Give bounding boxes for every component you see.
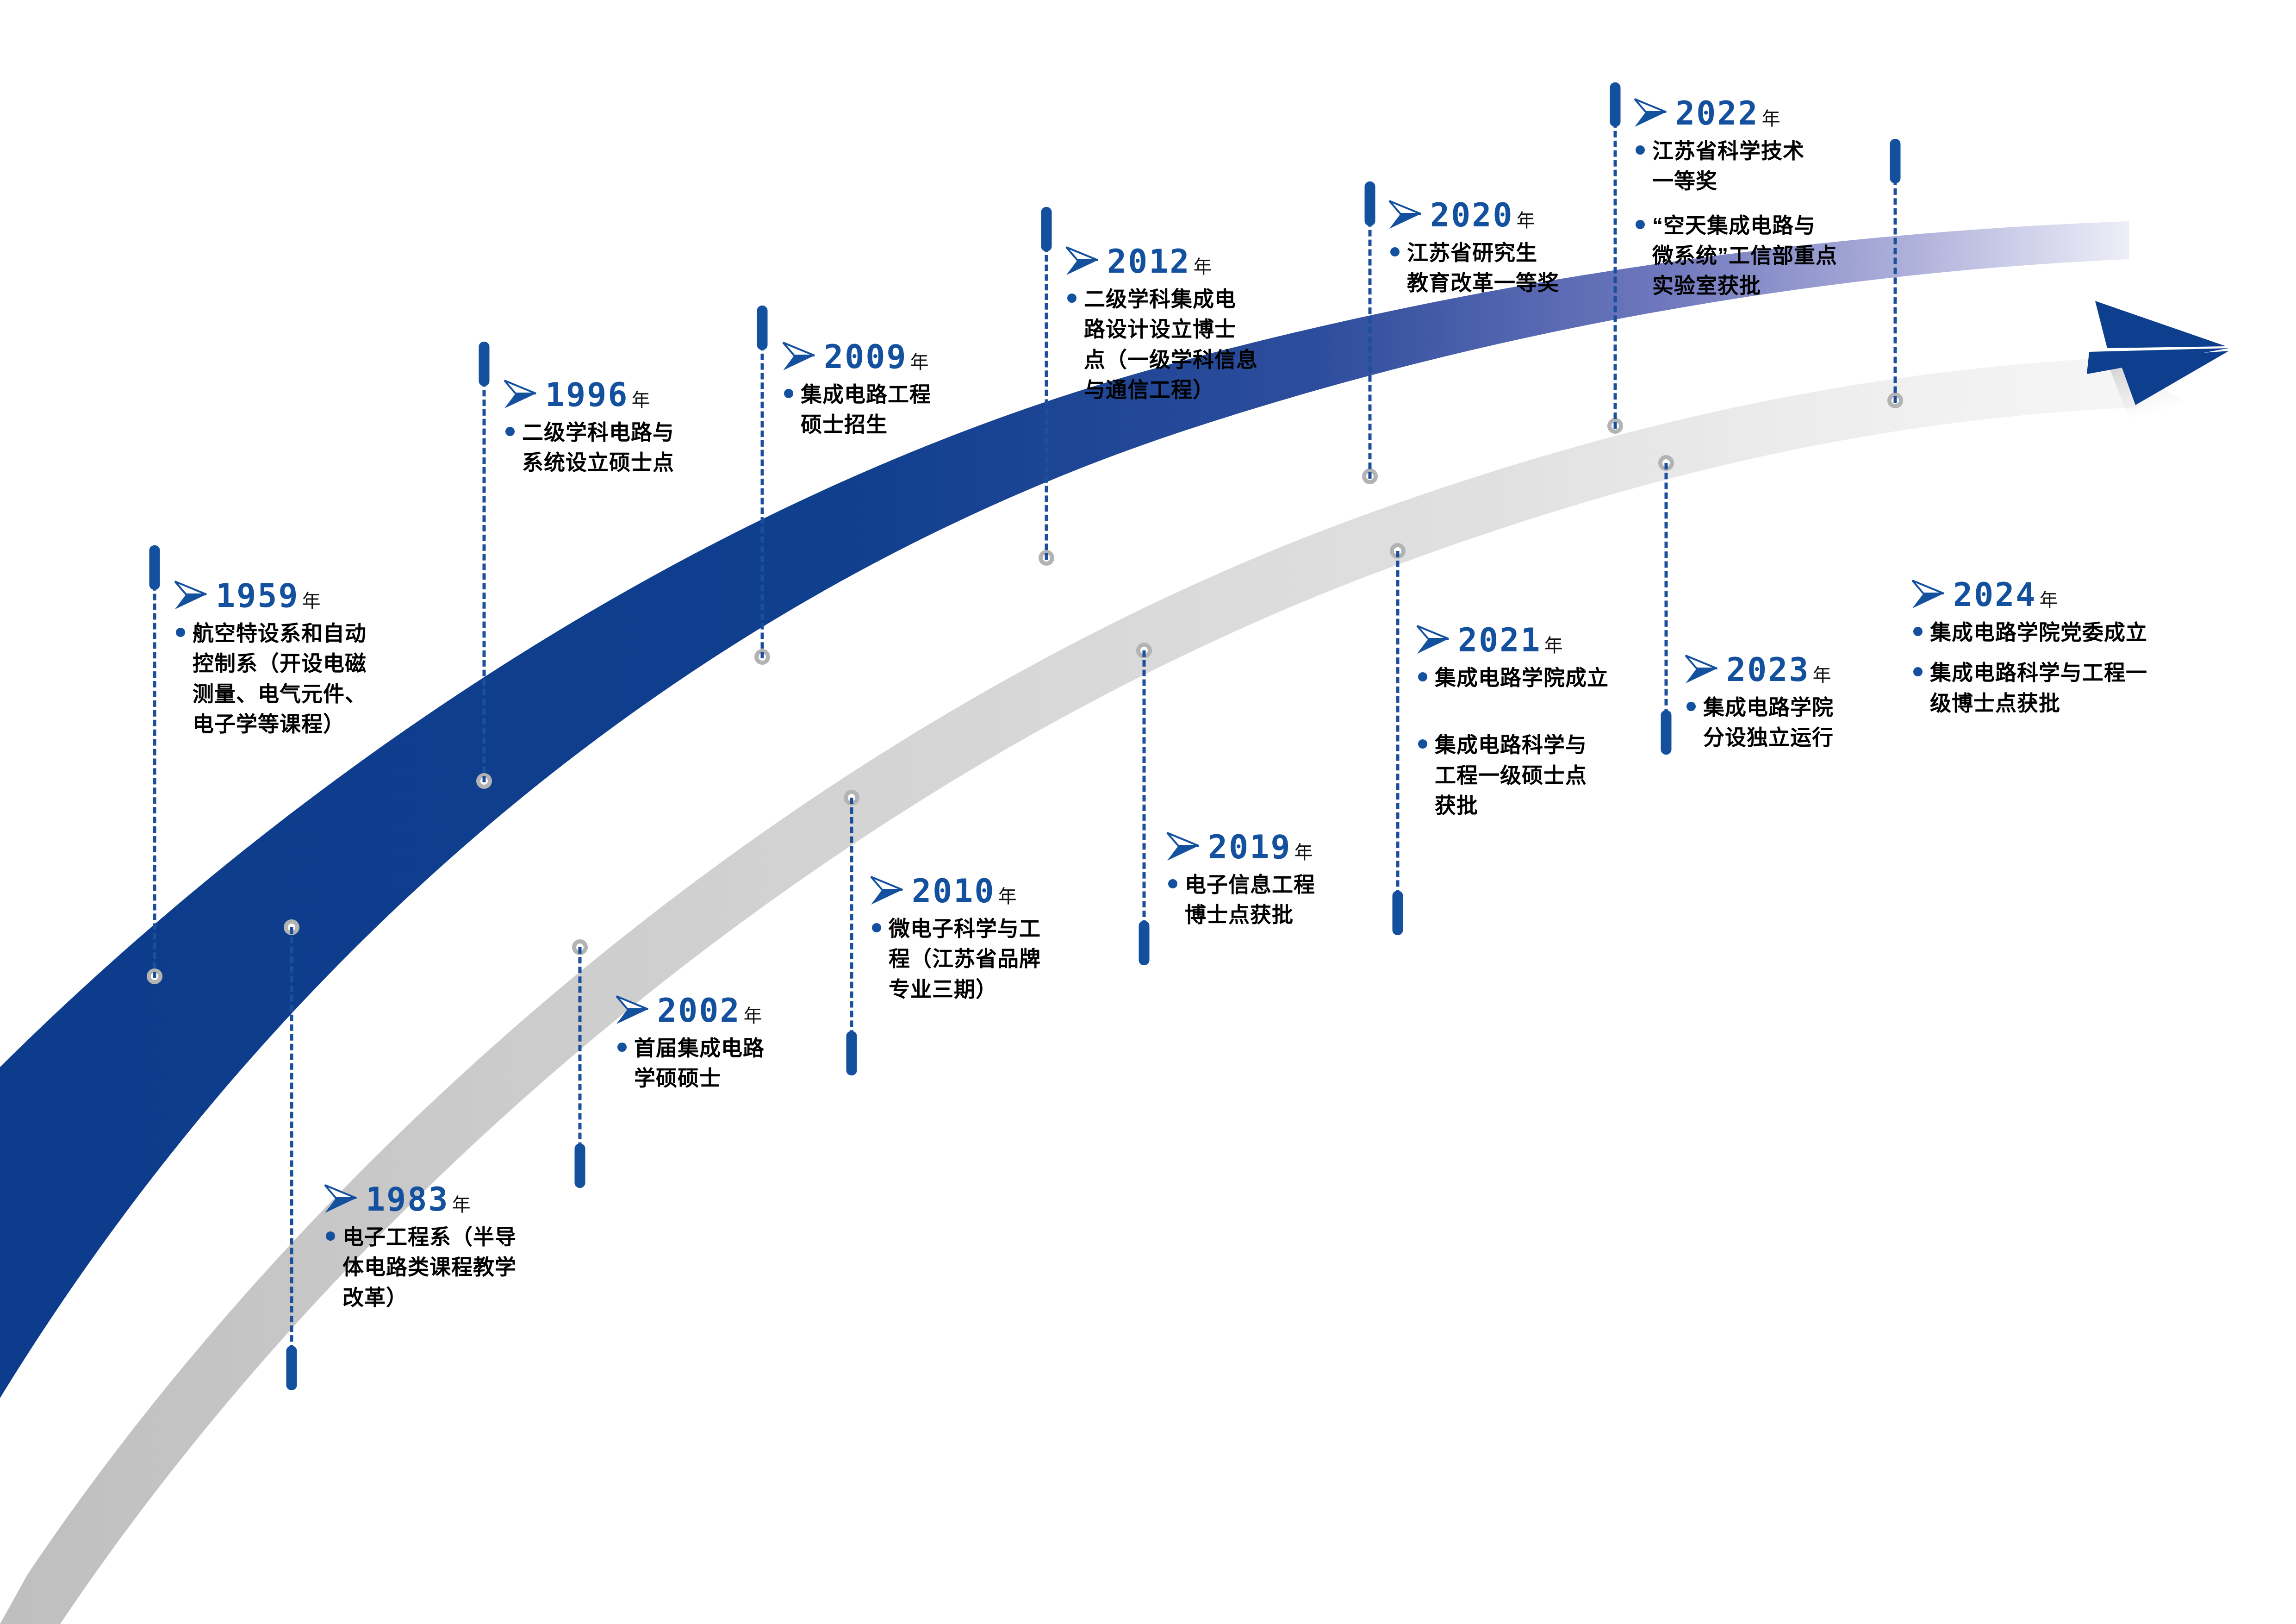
list-item: 江苏省科学技术 一等奖 (1634, 136, 1939, 197)
event-list: 二级学科电路与 系统设立硕士点 (504, 418, 781, 478)
timeline-entry-2022[interactable]: 2022 年 江苏省科学技术 一等奖 “空天集成电路与 微系统”工信部重点 实验… (1634, 97, 1939, 301)
event-list: 江苏省科学技术 一等奖 “空天集成电路与 微系统”工信部重点 实验室获批 (1634, 136, 1939, 301)
list-item: 集成电路科学与 工程一级硕士点 获批 (1416, 730, 1703, 821)
event-list: 集成电路学院党委成立 集成电路科学与工程一 级博士点获批 (1911, 618, 2235, 718)
list-item: 电子信息工程 博士点获批 (1166, 870, 1444, 931)
bullet-dot-icon (505, 427, 515, 436)
bullet-dot-icon (1636, 220, 1645, 229)
list-item: 集成电路科学与工程一 级博士点获批 (1911, 658, 2235, 718)
timeline-entry-2002[interactable]: 2002 年 首届集成电路 学硕硕士 (616, 994, 893, 1094)
year-heading: 2010 年 (870, 875, 1157, 907)
year-value: 2009 (824, 341, 908, 373)
chevron-arrow-icon (782, 342, 816, 371)
bullet-dot-icon (784, 389, 793, 398)
bullet-dot-icon (617, 1043, 627, 1052)
year-heading: 2020 年 (1388, 199, 1666, 231)
event-list: 首届集成电路 学硕硕士 (616, 1033, 893, 1094)
bullet-dot-icon (326, 1231, 335, 1241)
bullet-dot-icon (1390, 247, 1400, 256)
timeline-entry-2009[interactable]: 2009 年 集成电路工程 硕士招生 (782, 341, 1060, 440)
year-heading: 1983 年 (324, 1183, 602, 1216)
bullet-dot-icon (1913, 627, 1923, 636)
year-value: 2021 (1458, 624, 1542, 656)
chevron-arrow-icon (870, 876, 904, 906)
year-suffix: 年 (632, 391, 650, 410)
timeline-entry-2024[interactable]: 2024 年 集成电路学院党委成立 集成电路科学与工程一 级博士点获批 (1911, 579, 2235, 718)
year-suffix: 年 (1517, 212, 1535, 230)
timeline-entry-2010[interactable]: 2010 年 微电子科学与工 程（江苏省品牌 专业三期） (870, 875, 1157, 1005)
list-item: 集成电路学院成立 (1416, 663, 1703, 693)
chevron-arrow-icon (1166, 832, 1201, 862)
year-value: 1983 (366, 1183, 449, 1216)
timeline-entry-1959[interactable]: 1959 年 航空特设系和自动 控制系（开设电磁 测量、电气元件、 电子学等课程… (174, 580, 452, 739)
year-heading: 1959 年 (174, 580, 452, 612)
timeline-infographic: 1959 年 航空特设系和自动 控制系（开设电磁 测量、电气元件、 电子学等课程… (0, 0, 2296, 1624)
timeline-entry-1983[interactable]: 1983 年 电子工程系（半导 体电路类课程教学 改革） (324, 1183, 602, 1313)
list-item: 微电子科学与工 程（江苏省品牌 专业三期） (870, 914, 1157, 1005)
bullet-dot-icon (176, 628, 185, 637)
year-suffix: 年 (910, 353, 929, 372)
chevron-arrow-icon (1065, 246, 1100, 276)
bullet-dot-icon (1913, 667, 1923, 676)
year-value: 1996 (545, 379, 629, 411)
year-heading: 2024 年 (1911, 579, 2235, 611)
bullet-dot-icon (1636, 145, 1645, 155)
list-item: “空天集成电路与 微系统”工信部重点 实验室获批 (1634, 211, 1939, 301)
chevron-arrow-icon (1685, 655, 1719, 684)
year-suffix: 年 (744, 1007, 762, 1025)
year-suffix: 年 (998, 887, 1017, 906)
year-suffix: 年 (1194, 258, 1212, 276)
event-list: 电子工程系（半导 体电路类课程教学 改革） (324, 1222, 602, 1313)
chevron-arrow-icon (1634, 98, 1668, 128)
event-list: 微电子科学与工 程（江苏省品牌 专业三期） (870, 914, 1157, 1005)
chevron-arrow-icon (174, 581, 208, 610)
list-item: 二级学科集成电 路设计设立博士 点（一级学科信息 与通信工程） (1065, 284, 1362, 405)
year-value: 2012 (1107, 245, 1191, 278)
chevron-arrow-icon (1388, 200, 1423, 230)
year-suffix: 年 (1544, 637, 1563, 655)
year-value: 2020 (1430, 199, 1514, 231)
chevron-arrow-icon (324, 1184, 358, 1214)
list-item: 江苏省研究生 教育改革一等奖 (1388, 238, 1666, 299)
list-item: 航空特设系和自动 控制系（开设电磁 测量、电气元件、 电子学等课程） (174, 618, 452, 739)
year-value: 2022 (1675, 97, 1759, 130)
year-suffix: 年 (452, 1196, 471, 1214)
list-item: 二级学科电路与 系统设立硕士点 (504, 418, 781, 478)
timeline-entry-2021[interactable]: 2021 年 集成电路学院成立 集成电路科学与 工程一级硕士点 获批 (1416, 624, 1703, 821)
list-item: 电子工程系（半导 体电路类课程教学 改革） (324, 1222, 602, 1313)
year-value: 2010 (912, 875, 996, 907)
timeline-entry-2020[interactable]: 2020 年 江苏省研究生 教育改革一等奖 (1388, 199, 1666, 299)
year-value: 1959 (216, 580, 299, 612)
chevron-arrow-icon (616, 995, 650, 1025)
list-item: 集成电路工程 硕士招生 (782, 380, 1060, 440)
timeline-entry-2019[interactable]: 2019 年 电子信息工程 博士点获批 (1166, 831, 1444, 931)
list-item: 首届集成电路 学硕硕士 (616, 1033, 893, 1094)
year-value: 2019 (1208, 831, 1292, 863)
timeline-entry-2012[interactable]: 2012 年 二级学科集成电 路设计设立博士 点（一级学科信息 与通信工程） (1065, 245, 1362, 405)
event-list: 二级学科集成电 路设计设立博士 点（一级学科信息 与通信工程） (1065, 284, 1362, 405)
year-value: 2002 (657, 994, 741, 1027)
year-suffix: 年 (1294, 843, 1313, 862)
bullet-dot-icon (1067, 294, 1076, 303)
bullet-dot-icon (872, 923, 881, 932)
list-item: 集成电路学院党委成立 (1911, 618, 2235, 648)
year-suffix: 年 (1762, 110, 1780, 128)
chevron-arrow-icon (1416, 625, 1450, 655)
year-heading: 2021 年 (1416, 624, 1703, 656)
event-list: 电子信息工程 博士点获批 (1166, 870, 1444, 931)
year-heading: 2012 年 (1065, 245, 1362, 278)
year-suffix: 年 (1813, 666, 1831, 685)
year-heading: 2009 年 (782, 341, 1060, 373)
bullet-dot-icon (1418, 672, 1427, 681)
event-list: 江苏省研究生 教育改革一等奖 (1388, 238, 1666, 299)
year-value: 2023 (1726, 654, 1810, 686)
chevron-arrow-icon (1911, 580, 1946, 609)
year-heading: 2022 年 (1634, 97, 1939, 130)
event-list: 集成电路工程 硕士招生 (782, 380, 1060, 440)
chevron-arrow-icon (504, 380, 538, 409)
year-heading: 2002 年 (616, 994, 893, 1027)
timeline-entry-1996[interactable]: 1996 年 二级学科电路与 系统设立硕士点 (504, 379, 781, 478)
bullet-dot-icon (1168, 879, 1177, 888)
year-heading: 2019 年 (1166, 831, 1444, 863)
year-suffix: 年 (302, 592, 321, 611)
event-list: 航空特设系和自动 控制系（开设电磁 测量、电气元件、 电子学等课程） (174, 618, 452, 739)
year-value: 2024 (1953, 579, 2037, 611)
year-heading: 1996 年 (504, 379, 781, 411)
year-suffix: 年 (2040, 591, 2058, 610)
bullet-dot-icon (1686, 702, 1696, 711)
event-list: 集成电路学院成立 集成电路科学与 工程一级硕士点 获批 (1416, 663, 1703, 821)
bullet-dot-icon (1418, 739, 1427, 749)
